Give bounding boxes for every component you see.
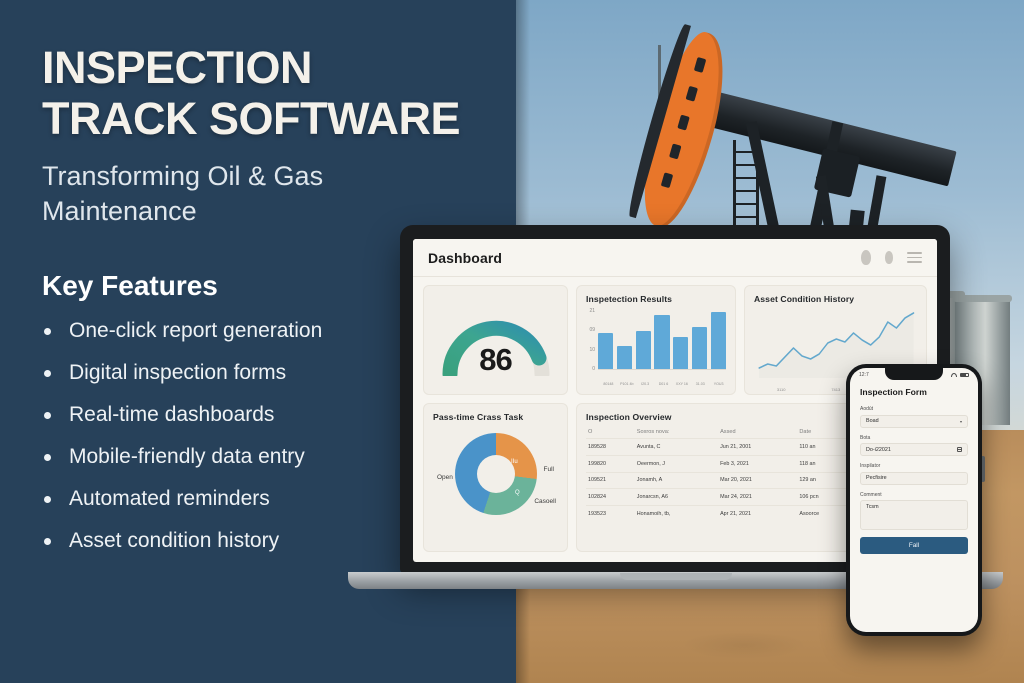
bullet-icon	[44, 328, 51, 335]
cell-date: 106 pcn	[797, 489, 850, 506]
cell-id: 193523	[586, 506, 635, 522]
bell-blob-icon[interactable]	[885, 251, 893, 264]
x-tick: XXY 16	[674, 382, 689, 386]
donut-label-full: Full	[544, 466, 554, 473]
chevron-down-icon: ▾	[960, 419, 962, 424]
card-title: Asset Condition History	[754, 294, 917, 304]
donut-label-open: Open	[437, 474, 453, 481]
asset-field-label: Aodút	[860, 406, 968, 412]
calendar-icon[interactable]	[957, 447, 962, 453]
phone-screen: 12:7 Inspection Form Aodút Boad ▾ Bota D…	[850, 368, 978, 632]
donut-label-casoell: Casoell	[534, 498, 556, 505]
wifi-icon	[951, 373, 957, 377]
inspector-input-value: Pecfisire	[866, 475, 887, 481]
cell-assed: Jun 21, 2001	[718, 439, 797, 456]
cell-source: Avunta, C	[635, 439, 718, 456]
cell-assed: Apr 21, 2021	[718, 506, 797, 522]
feature-label: Asset condition history	[69, 529, 279, 552]
bar-chart: 21 09 10 0	[586, 308, 726, 382]
y-tick: 09	[586, 327, 595, 333]
bullet-icon	[44, 370, 51, 377]
x-tick: 7413	[831, 387, 840, 392]
dashboard-header: Dashboard	[413, 239, 937, 277]
x-tick: 31.03	[693, 382, 708, 386]
cell-source: Oeermon, J	[635, 455, 718, 472]
phone-mockup: 12:7 Inspection Form Aodút Boad ▾ Bota D…	[846, 364, 982, 636]
gauge-card: 86	[423, 285, 568, 395]
comment-textarea-value: Tcsm	[866, 504, 879, 510]
bar	[654, 315, 669, 369]
asset-select-value: Boad	[866, 418, 879, 424]
y-tick: 10	[586, 347, 595, 353]
bullet-icon	[44, 412, 51, 419]
donut-slice-value-top: IIu	[511, 459, 518, 465]
donut-chart: Open Full Casoell IIu Q	[433, 426, 558, 522]
phone-side-button[interactable]	[982, 456, 985, 482]
x-tick: YOU3	[711, 382, 726, 386]
cell-assed: Mar 24, 2021	[718, 489, 797, 506]
bar-chart-x-axis: 80148 P101 4b I20.3 D01 6 XXY 16 31.03 Y…	[601, 382, 726, 386]
x-tick: 3110	[777, 387, 786, 392]
status-time: 12:7	[859, 372, 869, 378]
cell-assed: Feb 3, 2021	[718, 455, 797, 472]
inspection-form: Inspection Form Aodút Boad ▾ Bota Do-i22…	[850, 378, 978, 564]
cell-date: 129 an	[797, 472, 850, 489]
page-title: INSPECTION TRACK SOFTWARE	[42, 42, 516, 145]
feature-label: Digital inspection forms	[69, 361, 286, 384]
bar	[636, 331, 651, 369]
cell-source: Jonamh, A	[635, 472, 718, 489]
feature-label: Mobile-friendly data entry	[69, 445, 305, 468]
header-icon-group	[861, 250, 922, 265]
column-header-assed[interactable]: Assed	[718, 426, 797, 439]
pass-time-crass-task-card: Pass-time Crass Task Open Full Casoell I…	[423, 403, 568, 552]
phone-notch	[885, 368, 943, 380]
gauge-value: 86	[438, 342, 554, 378]
user-blob-icon[interactable]	[861, 250, 871, 265]
cell-assed: Mar 20, 2021	[718, 472, 797, 489]
cell-date: Asoorce	[797, 506, 850, 522]
donut-ring	[455, 433, 537, 515]
bar	[598, 333, 613, 369]
cell-id: 102824	[586, 489, 635, 506]
feature-label: Real-time dashboards	[69, 403, 274, 426]
x-tick: P101 4b	[619, 382, 634, 386]
score-gauge: 86	[438, 304, 554, 376]
cell-source: Honamoih, tb,	[635, 506, 718, 522]
feature-label: One-click report generation	[69, 319, 322, 342]
title-line-2: TRACK SOFTWARE	[42, 93, 460, 144]
date-input-value: Do-i22021	[866, 447, 891, 453]
cell-id: 199820	[586, 455, 635, 472]
bullet-icon	[44, 454, 51, 461]
cell-id: 109521	[586, 472, 635, 489]
bar	[692, 327, 707, 369]
cell-date: 110 an	[797, 439, 850, 456]
y-tick: 0	[586, 366, 595, 372]
dashboard-title: Dashboard	[428, 250, 502, 266]
date-field-label: Bota	[860, 435, 968, 441]
donut-slice-value-bottom: Q	[515, 490, 520, 496]
column-header-id[interactable]: O	[586, 426, 635, 439]
cell-date: 118 an	[797, 455, 850, 472]
bar	[711, 312, 726, 369]
bar-chart-y-axis: 21 09 10 0	[586, 308, 598, 382]
title-line-1: INSPECTION	[42, 42, 312, 93]
page-subtitle: Transforming Oil & Gas Maintenance	[42, 159, 422, 230]
card-title: Inspetection Results	[586, 294, 726, 304]
comment-textarea[interactable]: Tcsm	[860, 500, 968, 530]
bar	[673, 337, 688, 369]
card-title: Pass-time Crass Task	[433, 412, 558, 422]
hamburger-menu-icon[interactable]	[907, 252, 922, 263]
inspection-results-card: Inspetection Results 21 09 10 0	[576, 285, 736, 395]
bullet-icon	[44, 496, 51, 503]
comment-field-label: Comment	[860, 492, 968, 498]
bullet-icon	[44, 538, 51, 545]
column-header-source[interactable]: Soxros nova:	[635, 426, 718, 439]
submit-button[interactable]: Fall	[860, 537, 968, 554]
x-tick: I20.3	[638, 382, 653, 386]
asset-select[interactable]: Boad ▾	[860, 415, 968, 428]
inspector-field-label: Inspilator	[860, 463, 968, 469]
cell-id: 189528	[586, 439, 635, 456]
bar-chart-plot	[598, 308, 726, 370]
laptop-trackpad-notch	[620, 573, 732, 580]
y-tick: 21	[586, 308, 595, 314]
battery-icon	[960, 373, 969, 377]
x-tick: D01 6	[656, 382, 671, 386]
cell-source: Jonarcsn, A6	[635, 489, 718, 506]
date-input[interactable]: Do-i22021	[860, 443, 968, 456]
form-title: Inspection Form	[860, 387, 968, 397]
bar	[617, 346, 632, 369]
feature-label: Automated reminders	[69, 487, 270, 510]
x-tick: 80148	[601, 382, 616, 386]
inspector-input[interactable]: Pecfisire	[860, 472, 968, 485]
column-header-date[interactable]: Date	[797, 426, 850, 439]
